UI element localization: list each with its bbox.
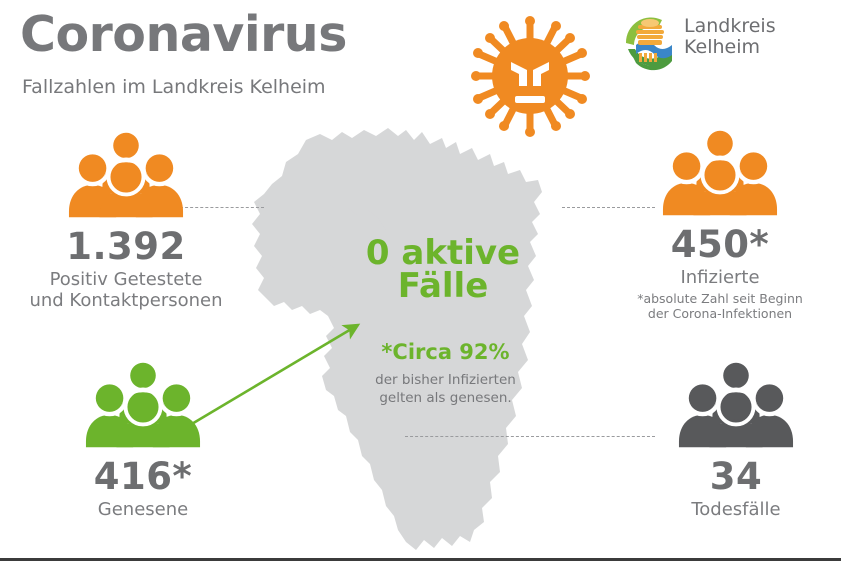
stat-label-positive: Positiv Getestete und Kontaktpersonen xyxy=(6,269,246,311)
note-line-2: gelten als genesen. xyxy=(338,390,553,408)
people-group-icon-positive xyxy=(6,132,246,218)
active-cases-line-2: Fälle xyxy=(333,270,553,303)
infographic-poster: Coronavirus Fallzahlen im Landkreis Kelh… xyxy=(0,0,841,561)
stat-recovered: 416* Genesene xyxy=(23,362,263,520)
stat-deaths: 34 Todesfälle xyxy=(616,362,841,520)
stat-value-infected: 450* xyxy=(600,224,840,265)
recovered-percentage-note: der bisher Infizierten gelten als genese… xyxy=(338,372,553,407)
logo-line-1: Landkreis xyxy=(684,16,776,37)
note-line-1: der bisher Infizierten xyxy=(338,372,553,390)
stat-positive-tested: 1.392 Positiv Getestete und Kontaktperso… xyxy=(6,132,246,312)
logo-text: Landkreis Kelheim xyxy=(684,16,776,59)
active-cases-headline: 0 aktive Fälle xyxy=(333,237,553,303)
stat-note-infected: *absolute Zahl seit Beginn der Corona-In… xyxy=(600,291,840,321)
people-group-icon-recovered xyxy=(23,362,263,448)
stat-note-infected-line-1: *absolute Zahl seit Beginn xyxy=(600,291,840,306)
stat-value-deaths: 34 xyxy=(616,456,841,497)
stat-label-deaths: Todesfälle xyxy=(616,499,841,520)
landkreis-kelheim-logo: Landkreis Kelheim xyxy=(622,14,822,72)
stat-label-recovered: Genesene xyxy=(23,499,263,520)
stat-note-infected-line-2: der Corona-Infektionen xyxy=(600,306,840,321)
people-group-icon-deaths xyxy=(616,362,841,448)
page-title: Coronavirus xyxy=(20,8,347,62)
stat-infected: 450* Infizierte *absolute Zahl seit Begi… xyxy=(600,130,840,321)
stat-label-infected: Infizierte xyxy=(600,267,840,288)
logo-line-2: Kelheim xyxy=(684,37,776,58)
stat-value-positive: 1.392 xyxy=(6,226,246,267)
angry-coronavirus-icon xyxy=(455,12,605,147)
people-group-icon-infected xyxy=(600,130,840,216)
stat-label-positive-line-2: und Kontaktpersonen xyxy=(6,290,246,311)
stat-label-positive-line-1: Positiv Getestete xyxy=(6,269,246,290)
page-subtitle: Fallzahlen im Landkreis Kelheim xyxy=(22,76,326,98)
stat-value-recovered: 416* xyxy=(23,456,263,497)
recovered-percentage: *Circa 92% xyxy=(338,341,553,364)
